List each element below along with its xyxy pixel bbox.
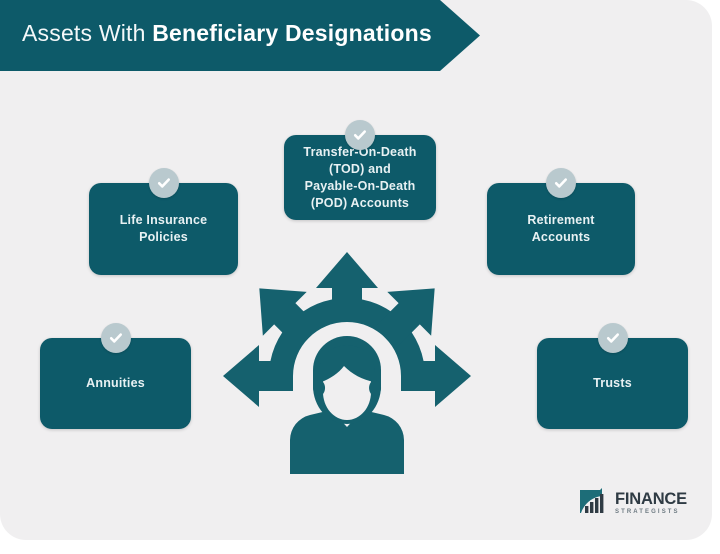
- asset-box-annuities[interactable]: Annuities: [40, 338, 191, 429]
- asset-box-label: Retirement Accounts: [517, 212, 604, 246]
- asset-box-tod-pod-accounts[interactable]: Transfer-On-Death (TOD) and Payable-On-D…: [284, 135, 436, 220]
- page-title: Assets With Beneficiary Designations: [22, 20, 432, 47]
- asset-box-trusts[interactable]: Trusts: [537, 338, 688, 429]
- asset-box-label: Trusts: [583, 375, 642, 392]
- check-circle-icon: [546, 168, 576, 198]
- check-circle-icon: [101, 323, 131, 353]
- page-title-bold: Beneficiary Designations: [152, 20, 432, 46]
- check-circle-icon: [598, 323, 628, 353]
- brand-name: FINANCE: [615, 491, 687, 508]
- check-circle-icon: [149, 168, 179, 198]
- asset-box-retirement-accounts[interactable]: Retirement Accounts: [487, 183, 635, 275]
- check-circle-icon: [345, 120, 375, 150]
- asset-box-label: Life Insurance Policies: [110, 212, 218, 246]
- asset-box-label: Transfer-On-Death (TOD) and Payable-On-D…: [293, 144, 426, 212]
- finance-strategists-bar-chart-icon: [578, 487, 611, 520]
- person-with-radiating-arrows-icon: [192, 252, 502, 476]
- asset-box-label: Annuities: [76, 375, 155, 392]
- page-title-regular: Assets With: [22, 20, 152, 46]
- brand-subtitle: STRATEGISTS: [615, 509, 687, 515]
- infographic-canvas: Assets With Beneficiary Designations Lif…: [0, 0, 720, 554]
- brand-logo: FINANCE STRATEGISTS: [578, 486, 690, 520]
